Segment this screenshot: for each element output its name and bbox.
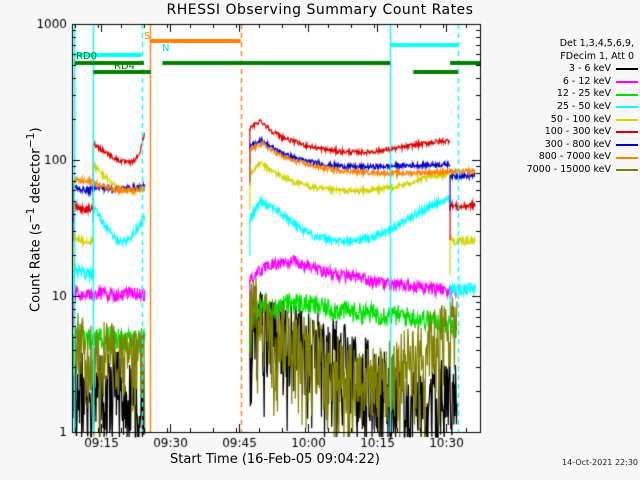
y-axis-label: Count Rate (s−1 detector−1) <box>24 90 43 350</box>
legend-entry-label: 7000 - 15000 keV <box>527 164 611 177</box>
legend-entry-label: 300 - 800 keV <box>545 139 611 152</box>
x-axis-label: Start Time (16-Feb-05 09:04:22) <box>60 452 490 467</box>
legend-entry-label: 6 - 12 keV <box>563 76 611 89</box>
legend-color-swatch <box>616 169 638 171</box>
page-title: RHESSI Observing Summary Count Rates <box>0 2 640 18</box>
legend-entry: 300 - 800 keV <box>486 139 638 152</box>
legend-entry-label: 3 - 6 keV <box>569 63 611 76</box>
legend-entry-label: 100 - 300 keV <box>545 126 611 139</box>
legend-entry: 12 - 25 keV <box>486 88 638 101</box>
legend-color-swatch <box>616 106 638 108</box>
legend-entry: 6 - 12 keV <box>486 76 638 89</box>
legend-entry: 3 - 6 keV <box>486 63 638 76</box>
y-axis-label-text: Count Rate (s−1 detector−1) <box>29 127 44 312</box>
legend-color-swatch <box>616 81 638 83</box>
flag-RD4: RD4 <box>114 62 135 72</box>
render-timestamp: 14-Oct-2021 22:30 <box>500 458 638 467</box>
legend-color-swatch <box>616 94 638 96</box>
legend-entry: 7000 - 15000 keV <box>486 164 638 177</box>
flag-N: N <box>162 44 169 54</box>
legend-color-swatch <box>616 157 638 159</box>
legend-color-swatch <box>616 68 638 70</box>
legend-header-detectors: Det 1,3,4,5,6,9, <box>486 38 638 51</box>
flag-S: S <box>144 32 150 42</box>
legend: Det 1,3,4,5,6,9, FDecim 1, Att 0 3 - 6 k… <box>486 38 638 177</box>
legend-entry: 100 - 300 keV <box>486 126 638 139</box>
legend-entry-label: 12 - 25 keV <box>557 88 611 101</box>
chart-page: RHESSI Observing Summary Count Rates Cou… <box>0 0 640 480</box>
legend-color-swatch <box>616 144 638 146</box>
legend-entry-label: 25 - 50 keV <box>557 101 611 114</box>
legend-entry-label: 800 - 7000 keV <box>539 151 611 164</box>
legend-entry: 25 - 50 keV <box>486 101 638 114</box>
legend-color-swatch <box>616 131 638 133</box>
legend-header-decimation: FDecim 1, Att 0 <box>486 51 638 64</box>
legend-entry-label: 50 - 100 keV <box>551 114 611 127</box>
legend-entry-list: 3 - 6 keV6 - 12 keV12 - 25 keV25 - 50 ke… <box>486 63 638 176</box>
legend-entry: 50 - 100 keV <box>486 114 638 127</box>
flag-RD0: RD0 <box>76 52 97 62</box>
legend-entry: 800 - 7000 keV <box>486 151 638 164</box>
legend-color-swatch <box>616 119 638 121</box>
